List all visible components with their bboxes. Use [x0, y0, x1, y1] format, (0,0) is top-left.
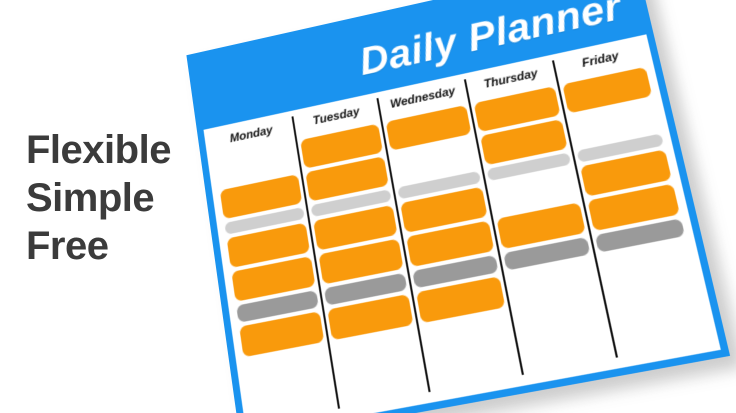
- planner-sheet: Daily Planner MondayTuesdayWednesdayThur…: [194, 0, 721, 413]
- task-slot-orange[interactable]: [327, 294, 414, 340]
- task-slot-orange[interactable]: [580, 149, 671, 196]
- task-slot-darkgray[interactable]: [503, 237, 591, 271]
- tagline-block: Flexible Simple Free: [26, 126, 216, 270]
- task-slot-orange[interactable]: [588, 184, 680, 231]
- daily-planner-card-tilt: Daily Planner MondayTuesdayWednesdayThur…: [186, 0, 730, 413]
- day-slot-list: [473, 84, 614, 378]
- task-slot-orange[interactable]: [406, 221, 494, 267]
- task-slot-lightgray[interactable]: [577, 133, 664, 162]
- task-slot-empty: [490, 168, 579, 215]
- planner-promo-image: Flexible Simple Free Daily Planner Monda…: [0, 0, 736, 413]
- task-slot-orange[interactable]: [416, 276, 505, 323]
- day-column-friday[interactable]: Friday: [552, 35, 715, 362]
- daily-planner-card-wrapper: Daily Planner MondayTuesdayWednesdayThur…: [206, 0, 676, 396]
- task-slot-empty: [570, 100, 660, 147]
- tagline-line-2: Simple: [26, 174, 216, 222]
- task-slot-empty: [507, 258, 598, 305]
- tagline-line-3: Free: [26, 222, 216, 270]
- day-slot-list: [562, 65, 710, 361]
- task-slot-empty: [600, 240, 693, 288]
- tagline-line-1: Flexible: [26, 126, 216, 174]
- daily-planner-card: Daily Planner MondayTuesdayWednesdayThur…: [186, 0, 730, 413]
- task-slot-lightgray[interactable]: [486, 152, 571, 181]
- day-column-thursday[interactable]: Thursday: [464, 55, 619, 380]
